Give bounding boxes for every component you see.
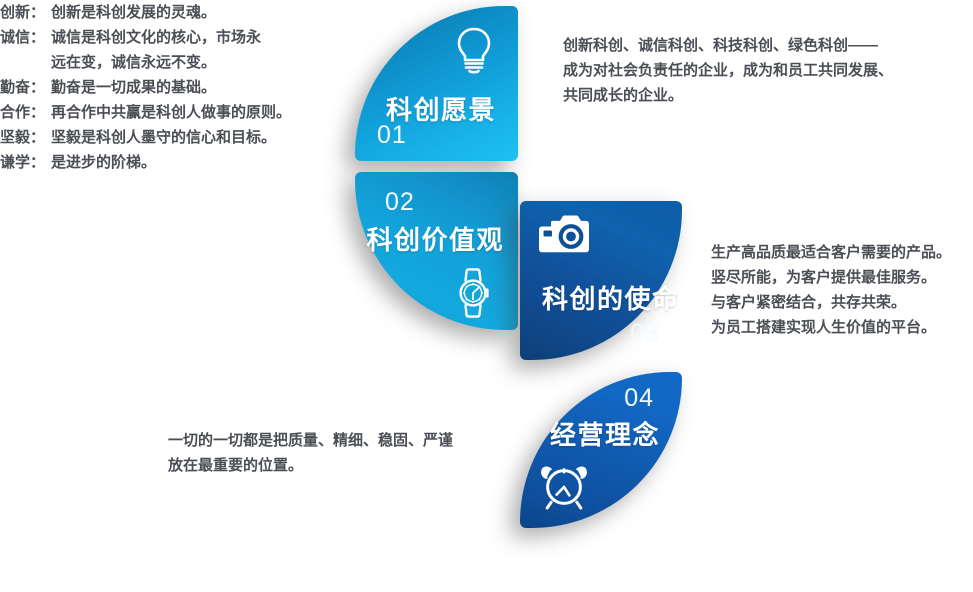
values-list-body: 创新：创新是科创发展的灵魂。诚信：诚信是科创文化的核心，市场永 远在变，诚信永远… — [0, 0, 291, 175]
values-row-key: 谦学： — [0, 150, 51, 175]
values-row: 谦学：是进步的阶梯。 — [0, 150, 291, 175]
values-row: 坚毅：坚毅是科创人墨守的信心和目标。 — [0, 125, 291, 150]
panel-title-04: 经营理念 — [550, 415, 660, 452]
values-row: 诚信：诚信是科创文化的核心，市场永 远在变，诚信永远不变。 — [0, 25, 291, 75]
panel-number-03: 03 — [630, 319, 660, 348]
panel-number-04: 04 — [624, 384, 654, 413]
values-row-text: 是进步的阶梯。 — [51, 150, 291, 175]
infographic-canvas: 科创愿景 01 02 科创价值观 — [0, 0, 973, 592]
panel-title-03: 科创的使命 — [542, 279, 680, 316]
values-row-key: 创新： — [0, 0, 51, 25]
alarm-clock-icon — [538, 458, 590, 510]
values-row-text: 诚信是科创文化的核心，市场永 远在变，诚信永远不变。 — [51, 25, 291, 75]
wristwatch-icon — [452, 268, 494, 318]
values-row-key: 勤奋： — [0, 75, 51, 100]
values-row-key: 合作： — [0, 100, 51, 125]
panel-content-02: 02 科创价值观 — [355, 172, 518, 330]
lightbulb-icon — [454, 26, 494, 74]
panel-values[interactable]: 02 科创价值观 — [355, 172, 518, 330]
values-row-key: 诚信： — [0, 25, 51, 75]
panel-mission[interactable]: 科创的使命 03 — [520, 201, 682, 360]
values-row: 勤奋：勤奋是一切成果的基础。 — [0, 75, 291, 100]
values-row-key: 坚毅： — [0, 125, 51, 150]
description-philosophy: 一切的一切都是把质量、精细、稳固、严谨 放在最重要的位置。 — [168, 428, 453, 478]
panel-philosophy[interactable]: 04 经营理念 — [520, 372, 682, 528]
description-vision: 创新科创、诚信科创、科技科创、绿色科创—— 成为对社会负责任的企业，成为和员工共… — [563, 33, 893, 108]
values-row-text: 创新是科创发展的灵魂。 — [51, 0, 291, 25]
values-row: 创新：创新是科创发展的灵魂。 — [0, 0, 291, 25]
description-mission: 生产高品质最适合客户需要的产品。 竖尽所能，为客户提供最佳服务。 与客户紧密结合… — [711, 240, 951, 340]
panel-content-04: 04 经营理念 — [520, 372, 682, 528]
values-row-text: 再合作中共赢是科创人做事的原则。 — [51, 100, 291, 125]
values-list: 创新：创新是科创发展的灵魂。诚信：诚信是科创文化的核心，市场永 远在变，诚信永远… — [0, 0, 291, 175]
values-row-text: 坚毅是科创人墨守的信心和目标。 — [51, 125, 291, 150]
panel-title-02: 科创价值观 — [366, 220, 504, 257]
panel-number-02: 02 — [385, 188, 415, 217]
values-row-text: 勤奋是一切成果的基础。 — [51, 75, 291, 100]
panel-content-03: 科创的使命 03 — [520, 201, 682, 360]
panel-content-01: 科创愿景 01 — [355, 6, 518, 161]
panel-vision[interactable]: 科创愿景 01 — [355, 6, 518, 161]
camera-icon — [538, 215, 590, 257]
values-row: 合作：再合作中共赢是科创人做事的原则。 — [0, 100, 291, 125]
panel-number-01: 01 — [377, 121, 407, 150]
